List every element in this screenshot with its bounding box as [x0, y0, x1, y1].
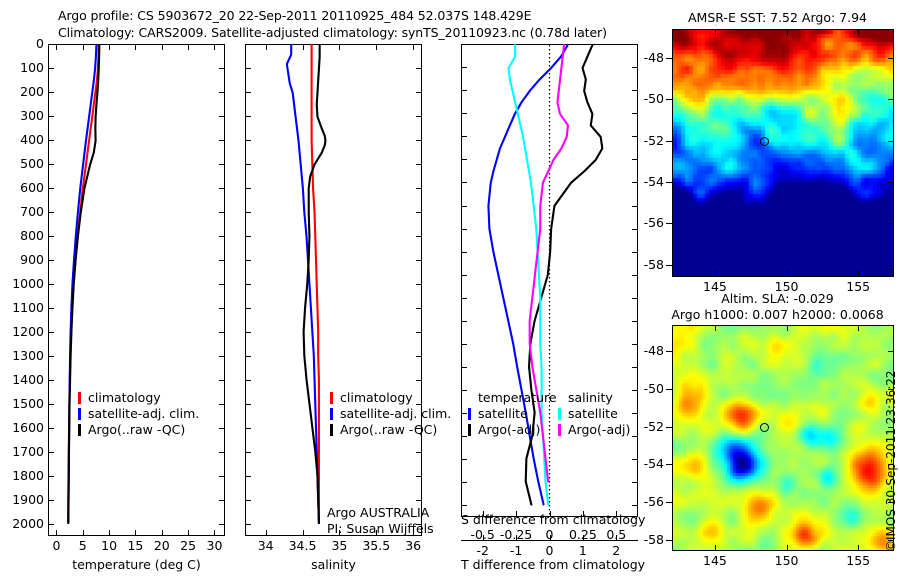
panel-difference-legend-salinity: salinity satelliteArgo(-adj) — [558, 390, 630, 438]
map-sst-image[interactable] — [672, 29, 894, 277]
sst-lat-label--48: -48 — [628, 50, 664, 65]
diff-depth-tick-900 — [461, 252, 467, 253]
diff-t-tick--1 — [516, 535, 517, 540]
diff-depth-tick-right-300 — [632, 113, 638, 114]
sst-lat-tick-right--56 — [888, 223, 894, 224]
sst-lat-tick-right--48 — [888, 58, 894, 59]
panel-difference-plot — [462, 45, 637, 516]
sst-lat-tick--48 — [666, 58, 672, 59]
legend-swatch — [558, 424, 561, 436]
map-sst-canvas — [673, 30, 894, 277]
sla-lat-label--48: -48 — [628, 343, 664, 358]
diff-depth-tick-200 — [461, 90, 467, 91]
diff-depth-tick-right-100 — [632, 67, 638, 68]
diff-depth-tick-1800 — [461, 459, 467, 460]
sst-lat-tick--52 — [666, 141, 672, 142]
diff-depth-tick-1300 — [461, 344, 467, 345]
difference-temperature-axis-line — [461, 540, 638, 541]
panel-difference-x-label-salinity: S difference from climatology — [461, 512, 638, 527]
sla-lon-label-155: 155 — [836, 553, 880, 568]
sst-lat-label--54: -54 — [628, 174, 664, 189]
sst-lon-tick-150 — [787, 271, 788, 277]
panel-difference: -0.5-0.2500.250.5 -2-1012 S difference f… — [0, 0, 660, 580]
diff-depth-tick-400 — [461, 136, 467, 137]
map-sla-canvas — [673, 326, 894, 551]
sla-lon-tick-155 — [858, 545, 859, 551]
diff-depth-tick-2000 — [461, 505, 467, 506]
sst-lon-tick-top-155 — [858, 29, 859, 35]
legend-label: satellite — [478, 406, 528, 422]
legend-header-salinity: salinity — [568, 390, 630, 406]
sst-lat-label--52: -52 — [628, 133, 664, 148]
diff-t-tick-0 — [550, 535, 551, 540]
sla-lat-label--52: -52 — [628, 419, 664, 434]
panel-difference-x-label-temperature: T difference from climatology — [461, 557, 638, 572]
sst-lat-tick-right--54 — [888, 182, 894, 183]
diff-depth-tick-100 — [461, 67, 467, 68]
sla-lon-label-145: 145 — [693, 553, 737, 568]
map-sst-title: AMSR-E SST: 7.52 Argo: 7.94 — [660, 10, 895, 25]
diff-depth-tick-right-1900 — [632, 482, 638, 483]
legend-item-satellite: satellite — [558, 406, 630, 422]
sst-lat-tick--58 — [666, 265, 672, 266]
copyright-credit: ©IMOS 30-Sep-2011 23:36:22 — [884, 370, 898, 552]
legend-items-salinity: satelliteArgo(-adj) — [558, 406, 630, 438]
map-sla-image[interactable] — [672, 325, 894, 551]
sla-lat-tick--54 — [666, 464, 672, 465]
diff-depth-tick-right-0 — [632, 44, 638, 45]
sst-lat-tick--56 — [666, 223, 672, 224]
sst-lat-tick-right--58 — [888, 265, 894, 266]
diff-depth-tick-right-1200 — [632, 321, 638, 322]
panel-difference-legend-temperature: temperature satelliteArgo(-adj) — [468, 390, 557, 438]
sla-lat-tick--48 — [666, 351, 672, 352]
diff-t-tick-1 — [583, 535, 584, 540]
legend-item-satellite: satellite — [468, 406, 557, 422]
sst-lat-tick--54 — [666, 182, 672, 183]
sla-lon-tick-150 — [787, 545, 788, 551]
sla-lat-tick--50 — [666, 389, 672, 390]
sla-lon-tick-top-145 — [715, 325, 716, 331]
sla-lon-tick-top-150 — [787, 325, 788, 331]
sla-lat-tick--58 — [666, 540, 672, 541]
diff-depth-tick-1900 — [461, 482, 467, 483]
diff-depth-tick-right-500 — [632, 159, 638, 160]
diff-t-tick--2 — [483, 535, 484, 540]
diff-depth-tick-right-1700 — [632, 436, 638, 437]
legend-label: Argo(-adj) — [478, 422, 540, 438]
diff-depth-tick-right-900 — [632, 252, 638, 253]
diff-depth-tick-1600 — [461, 413, 467, 414]
map-sla-title-line-2: Argo h1000: 0.007 h2000: 0.0068 — [655, 307, 900, 322]
legend-label: satellite — [568, 406, 618, 422]
diff-depth-tick-right-1000 — [632, 275, 638, 276]
legend-header-temperature: temperature — [478, 390, 557, 406]
diff-depth-tick-1100 — [461, 298, 467, 299]
diff-depth-tick-1000 — [461, 275, 467, 276]
diff-depth-tick-1700 — [461, 436, 467, 437]
sst-lat-label--56: -56 — [628, 215, 664, 230]
sla-lon-label-150: 150 — [765, 553, 809, 568]
legend-swatch — [558, 408, 561, 420]
sla-lat-tick-right--48 — [888, 351, 894, 352]
legend-items-temperature: satelliteArgo(-adj) — [468, 406, 557, 438]
legend-label: Argo(-adj) — [568, 422, 630, 438]
legend-item-argo--adj-: Argo(-adj) — [468, 422, 557, 438]
diff-depth-tick-right-1400 — [632, 367, 638, 368]
diff-depth-tick-right-1100 — [632, 298, 638, 299]
diff-depth-tick-700 — [461, 206, 467, 207]
diff-depth-tick-500 — [461, 159, 467, 160]
sst-lon-tick-155 — [858, 271, 859, 277]
panel-difference-frame — [461, 44, 638, 517]
sla-lat-label--56: -56 — [628, 494, 664, 509]
sst-lon-tick-145 — [715, 271, 716, 277]
sla-lat-label--54: -54 — [628, 456, 664, 471]
legend-item-argo--adj-: Argo(-adj) — [558, 422, 630, 438]
diff-t-tick-2 — [616, 535, 617, 540]
diff-depth-tick-0 — [461, 44, 467, 45]
sst-lat-tick--50 — [666, 99, 672, 100]
legend-swatch — [468, 424, 471, 436]
sla-lat-tick--52 — [666, 427, 672, 428]
sla-lon-tick-145 — [715, 545, 716, 551]
map-sla-title-line-1: Altim. SLA: -0.029 — [660, 291, 895, 306]
sst-lon-tick-top-150 — [787, 29, 788, 35]
sla-lon-tick-top-155 — [858, 325, 859, 331]
diff-depth-tick-right-1600 — [632, 413, 638, 414]
sla-lat-label--58: -58 — [628, 532, 664, 547]
diff-depth-tick-1500 — [461, 390, 467, 391]
diff-depth-tick-800 — [461, 229, 467, 230]
sst-lon-tick-top-145 — [715, 29, 716, 35]
diff-depth-tick-1200 — [461, 321, 467, 322]
argo-profile-figure: Argo profile: CS 5903672_20 22-Sep-2011 … — [0, 0, 900, 580]
sla-lat-tick--56 — [666, 502, 672, 503]
diff-depth-tick-600 — [461, 182, 467, 183]
legend-swatch — [468, 408, 471, 420]
diff-depth-tick-300 — [461, 113, 467, 114]
sst-lat-label--58: -58 — [628, 257, 664, 272]
sla-lat-label--50: -50 — [628, 381, 664, 396]
diff-depth-tick-1400 — [461, 367, 467, 368]
diff-depth-tick-right-700 — [632, 206, 638, 207]
sst-lat-label--50: -50 — [628, 91, 664, 106]
sst-lat-tick-right--50 — [888, 99, 894, 100]
sst-lat-tick-right--52 — [888, 141, 894, 142]
